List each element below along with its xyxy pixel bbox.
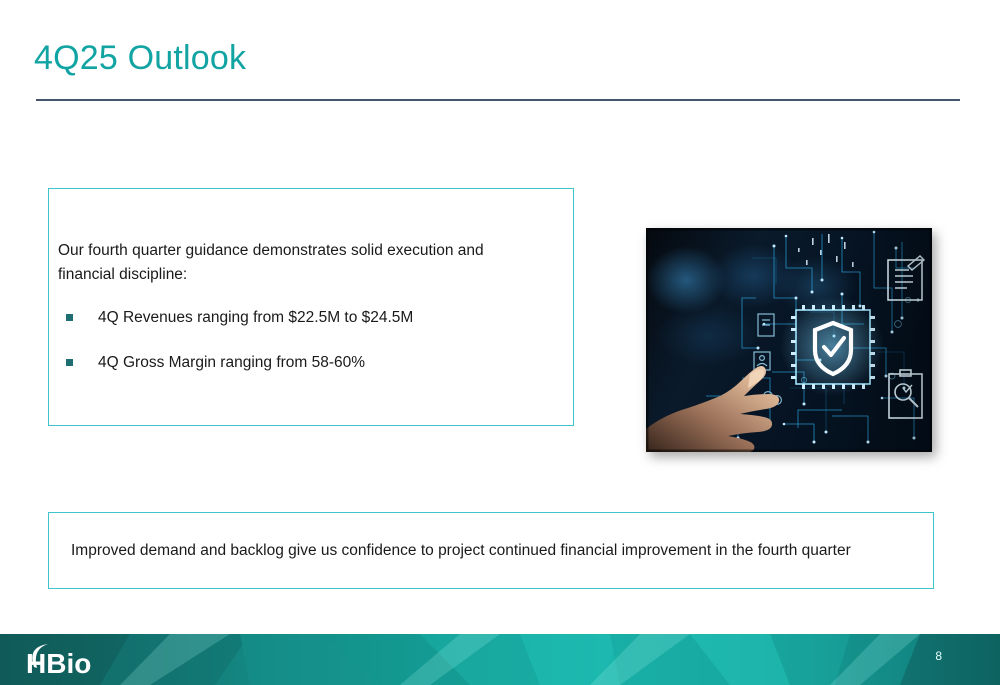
list-item: 4Q Gross Margin ranging from 58-60% [58, 351, 558, 375]
guidance-bullet-list: 4Q Revenues ranging from $22.5M to $24.5… [58, 306, 558, 396]
guidance-box: Our fourth quarter guidance demonstrates… [48, 188, 574, 426]
callout-box: Improved demand and backlog give us conf… [48, 512, 934, 589]
slide-footer: HBio 8 [0, 634, 1000, 685]
list-item-label: 4Q Gross Margin ranging from 58-60% [98, 351, 365, 375]
title-divider [36, 99, 960, 101]
square-bullet-icon [66, 314, 73, 321]
list-item-label: 4Q Revenues ranging from $22.5M to $24.5… [98, 306, 413, 330]
quality-assurance-photo [646, 228, 932, 452]
page-number: 8 [935, 649, 942, 663]
square-bullet-icon [66, 359, 73, 366]
callout-text: Improved demand and backlog give us conf… [71, 540, 921, 562]
footer-facet-background [0, 634, 1000, 685]
guidance-intro-text: Our fourth quarter guidance demonstrates… [58, 239, 538, 287]
logo-artwork: HBio [18, 641, 128, 681]
logo-wordmark: HBio [26, 648, 91, 679]
photo-artwork [646, 228, 932, 452]
page-title: 4Q25 Outlook [34, 37, 246, 79]
slide: 4Q25 Outlook Our fourth quarter guidance… [0, 0, 1000, 685]
list-item: 4Q Revenues ranging from $22.5M to $24.5… [58, 306, 558, 330]
hbio-logo: HBio [18, 641, 128, 681]
